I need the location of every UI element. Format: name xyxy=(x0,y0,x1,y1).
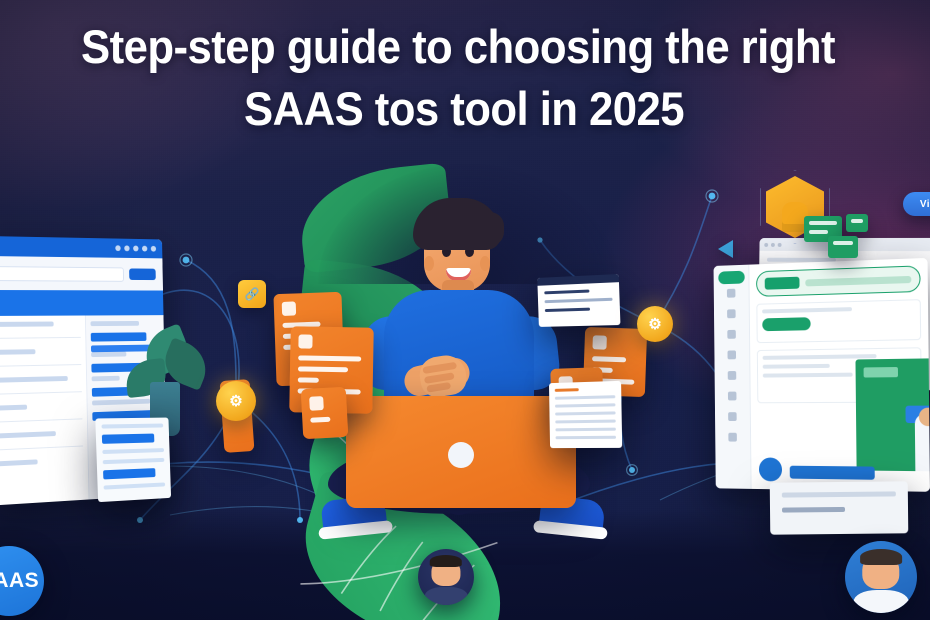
topbar-dot-icon xyxy=(115,245,120,251)
titlebar-dot-icon xyxy=(771,242,775,246)
table-row xyxy=(0,459,38,466)
table-row xyxy=(0,376,68,383)
titlebar-dot-icon xyxy=(778,242,782,246)
avatar-hair xyxy=(430,555,462,567)
sidebar-item-icon[interactable] xyxy=(728,371,737,380)
detail-line xyxy=(763,373,853,378)
search-input[interactable] xyxy=(0,266,124,282)
divider xyxy=(0,418,82,422)
widget-primary-bar xyxy=(103,468,155,479)
widget-line xyxy=(102,448,164,454)
right-dashboard-panel[interactable] xyxy=(714,258,930,492)
sidebar-item-icon[interactable] xyxy=(728,350,737,359)
metric-card[interactable] xyxy=(756,299,921,343)
card-line xyxy=(298,366,348,372)
list-item xyxy=(555,395,615,400)
divider xyxy=(0,391,82,395)
promo-tag xyxy=(864,367,898,378)
card-line xyxy=(809,230,828,234)
topbar-dot-icon xyxy=(133,246,138,252)
list-item xyxy=(555,420,615,424)
list-item xyxy=(556,436,616,439)
promo-panel[interactable] xyxy=(855,358,930,472)
network-share-icon: ⚙ xyxy=(229,394,242,409)
card-line xyxy=(851,219,863,223)
avatar[interactable] xyxy=(845,541,917,613)
table-row xyxy=(0,349,35,355)
avatar-hair xyxy=(860,549,902,565)
metric-label xyxy=(762,307,852,313)
card-line xyxy=(298,377,319,382)
gear-badge[interactable]: ⚙ xyxy=(637,306,673,342)
left-dashboard-topbar xyxy=(0,236,162,258)
sidebar-item-icon[interactable] xyxy=(728,433,737,442)
cursor-arrow-icon xyxy=(718,240,733,258)
status-text xyxy=(805,275,911,286)
divider xyxy=(0,364,81,367)
avatar-body xyxy=(854,590,909,613)
divider xyxy=(0,446,83,451)
chat-fab-button[interactable] xyxy=(759,457,782,481)
character-hair xyxy=(413,198,501,250)
link-icon: 🔗 xyxy=(245,287,260,301)
mini-browser-line xyxy=(545,298,613,303)
floating-list-card[interactable] xyxy=(549,381,622,448)
laptop-logo-icon xyxy=(448,442,474,468)
table-row xyxy=(0,431,55,439)
device-line xyxy=(782,491,896,497)
sidebar-logo-button[interactable] xyxy=(718,271,744,285)
sidebar-item-icon[interactable] xyxy=(728,392,737,401)
titlebar-dot-icon xyxy=(764,242,768,246)
topbar-dot-icon xyxy=(151,246,156,252)
table-row xyxy=(0,322,53,327)
status-badge xyxy=(765,277,800,290)
card-icon xyxy=(282,301,296,315)
topbar-dot-icon xyxy=(142,246,147,252)
card-icon xyxy=(298,334,312,348)
network-share-badge[interactable]: ⚙ xyxy=(216,381,256,421)
card-line xyxy=(833,241,853,245)
sidebar-item-icon[interactable] xyxy=(728,412,737,421)
list-item-accent xyxy=(555,388,579,392)
floating-card-orange[interactable] xyxy=(301,387,349,439)
device-line xyxy=(782,507,846,513)
right-dashboard-sidebar[interactable] xyxy=(714,265,752,489)
right-dashboard-main xyxy=(749,258,930,492)
widget-line xyxy=(103,458,165,464)
sidebar-item-icon[interactable] xyxy=(727,289,736,298)
search-submit-button[interactable] xyxy=(129,268,156,280)
list-item xyxy=(90,321,139,326)
hero-banner: 🔗 ⚙ ⚙ xyxy=(0,0,930,620)
green-mini-card[interactable] xyxy=(828,236,858,258)
avatar-body xyxy=(425,587,468,605)
topbar-dot-icon xyxy=(124,245,129,251)
character-finger xyxy=(426,382,451,393)
primary-action-button[interactable] xyxy=(790,466,875,480)
sidebar-item-icon[interactable] xyxy=(727,309,736,318)
bottom-right-device[interactable] xyxy=(770,481,909,534)
mini-browser-card[interactable] xyxy=(537,274,620,327)
left-dashboard-section-header xyxy=(0,290,163,316)
detail-line xyxy=(763,364,830,369)
mini-browser-line xyxy=(545,308,590,312)
left-dashboard-search-row[interactable] xyxy=(0,256,163,291)
list-item xyxy=(555,428,615,432)
widget-line xyxy=(104,482,166,489)
divider xyxy=(0,337,81,339)
mini-browser-heading xyxy=(544,290,589,295)
sidebar-item-icon[interactable] xyxy=(727,330,736,339)
character-finger xyxy=(424,372,455,384)
left-dashboard-table xyxy=(0,316,89,506)
card-line xyxy=(298,355,361,361)
left-floating-widget[interactable] xyxy=(95,418,171,503)
list-item xyxy=(92,376,120,382)
video-pill-button[interactable]: Vide xyxy=(903,192,930,216)
character-head xyxy=(418,204,496,292)
list-item xyxy=(555,411,615,415)
green-mini-card[interactable] xyxy=(846,214,868,232)
character-ear xyxy=(424,256,434,271)
widget-line xyxy=(101,424,163,429)
table-row xyxy=(0,405,27,411)
laptop[interactable] xyxy=(346,396,576,508)
list-item xyxy=(555,403,615,407)
metric-badge xyxy=(762,317,810,331)
status-banner[interactable] xyxy=(756,265,921,297)
card-line xyxy=(809,221,837,225)
character-ear xyxy=(480,256,490,271)
widget-primary-bar xyxy=(102,434,154,444)
card-line xyxy=(592,356,626,362)
link-icon-badge[interactable]: 🔗 xyxy=(238,280,266,308)
card-icon xyxy=(309,396,324,411)
card-icon xyxy=(592,335,606,349)
gear-icon: ⚙ xyxy=(648,317,661,332)
avatar[interactable] xyxy=(418,549,474,605)
card-line xyxy=(310,417,330,423)
